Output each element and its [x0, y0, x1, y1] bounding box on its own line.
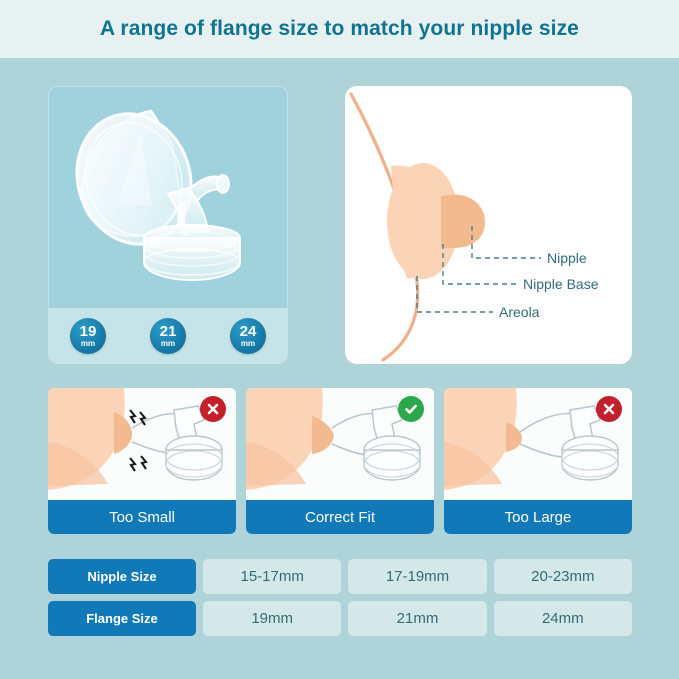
fit-label-too-small: Too Small	[48, 500, 236, 534]
fit-panel-too-small[interactable]: Too Small	[48, 388, 236, 534]
flange-product-image	[48, 86, 288, 308]
cell-flange-size-1: 19mm	[203, 601, 341, 636]
cell-flange-size-3: 24mm	[494, 601, 632, 636]
anatomy-label-nipple: Nipple	[547, 250, 587, 266]
size-badge-unit: mm	[81, 340, 95, 348]
size-badge-24[interactable]: 24 mm	[230, 318, 266, 354]
header-band: A range of flange size to match your nip…	[0, 0, 679, 58]
red-cross-icon	[596, 396, 622, 422]
fit-label-correct-fit: Correct Fit	[246, 500, 434, 534]
nipple-anatomy-card: Nipple Nipple Base Areola	[345, 86, 632, 364]
size-badge-unit: mm	[241, 340, 255, 348]
fit-comparison-row: Too Small Correct Fit	[48, 388, 632, 534]
cell-nipple-size-1: 15-17mm	[203, 559, 341, 594]
top-section: 19 mm 21 mm 24 mm Nipple	[48, 86, 632, 364]
anatomy-label-areola: Areola	[499, 304, 540, 320]
size-badge-number: 21	[160, 324, 177, 339]
breast-pump-flange-icon	[48, 86, 288, 308]
flange-product-card: 19 mm 21 mm 24 mm	[48, 86, 288, 364]
size-badge-unit: mm	[161, 340, 175, 348]
fit-label-too-large: Too Large	[444, 500, 632, 534]
size-badge-number: 24	[240, 324, 257, 339]
size-badge-21[interactable]: 21 mm	[150, 318, 186, 354]
table-row-flange-size: Flange Size 19mm 21mm 24mm	[48, 601, 632, 636]
page-title: A range of flange size to match your nip…	[100, 17, 579, 41]
fit-illustration-too-small	[48, 388, 236, 500]
cell-flange-size-2: 21mm	[348, 601, 486, 636]
fit-panel-correct-fit[interactable]: Correct Fit	[246, 388, 434, 534]
green-check-icon	[398, 396, 424, 422]
row-header-flange-size: Flange Size	[48, 601, 196, 636]
anatomy-label-nipple-base: Nipple Base	[523, 276, 599, 292]
nipple-anatomy-diagram: Nipple Nipple Base Areola	[345, 86, 632, 364]
row-header-nipple-size: Nipple Size	[48, 559, 196, 594]
fit-illustration-too-large	[444, 388, 632, 500]
table-row-nipple-size: Nipple Size 15-17mm 17-19mm 20-23mm	[48, 559, 632, 594]
size-reference-table: Nipple Size 15-17mm 17-19mm 20-23mm Flan…	[48, 559, 632, 643]
size-badge-number: 19	[80, 324, 97, 339]
cell-nipple-size-2: 17-19mm	[348, 559, 486, 594]
flange-size-badge-strip: 19 mm 21 mm 24 mm	[48, 308, 288, 364]
cell-nipple-size-3: 20-23mm	[494, 559, 632, 594]
size-badge-19[interactable]: 19 mm	[70, 318, 106, 354]
fit-panel-too-large[interactable]: Too Large	[444, 388, 632, 534]
red-cross-icon	[200, 396, 226, 422]
fit-illustration-correct-fit	[246, 388, 434, 500]
